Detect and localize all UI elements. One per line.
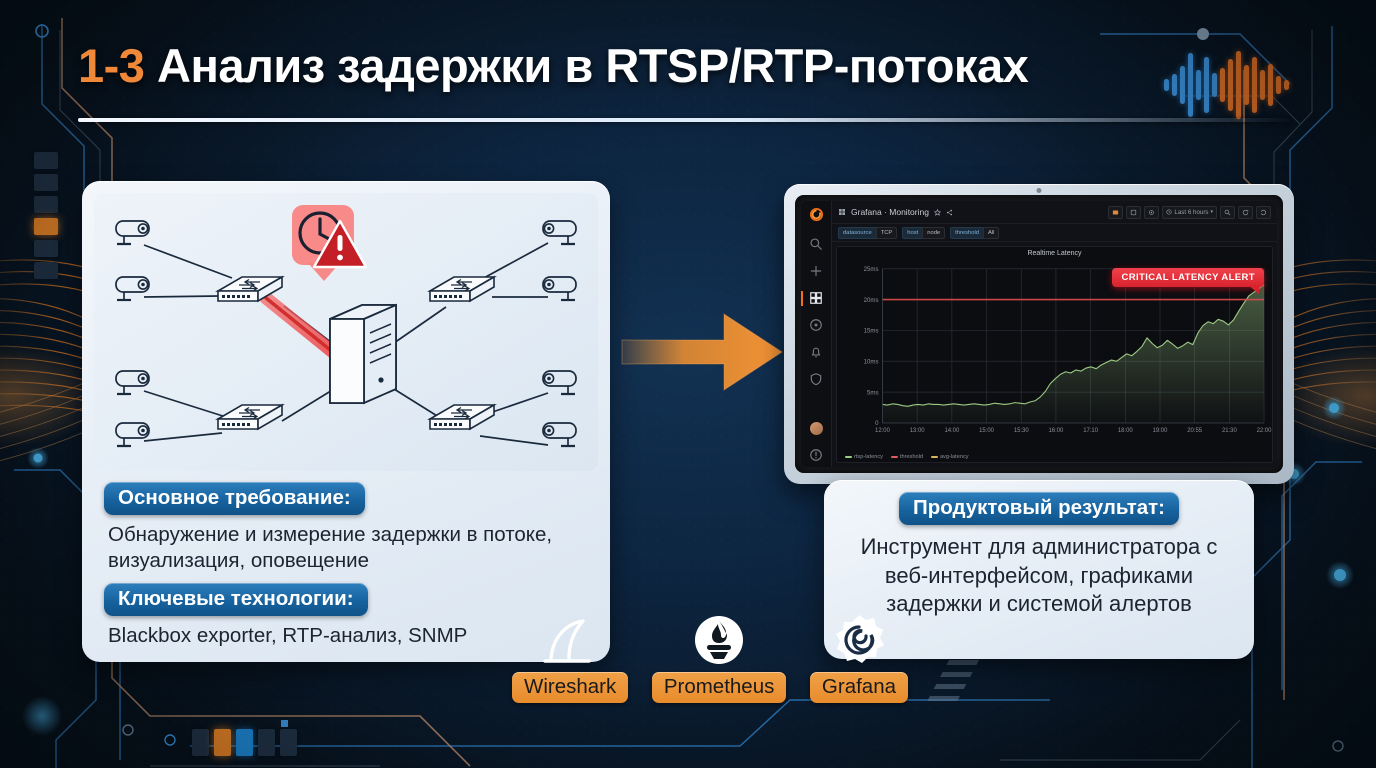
switch-icon xyxy=(430,277,494,301)
svg-text:15:00: 15:00 xyxy=(979,428,995,434)
tool-label: Wireshark xyxy=(512,672,628,703)
technologies-label: Ключевые технологии: xyxy=(104,583,368,616)
variable-value: TCP xyxy=(876,227,898,239)
zoom-out-button[interactable] xyxy=(1220,206,1235,219)
svg-text:5ms: 5ms xyxy=(867,389,879,396)
time-range-picker[interactable]: Last 6 hours ▾ xyxy=(1162,206,1217,219)
svg-text:0: 0 xyxy=(875,420,879,427)
requirement-block: Основное требование: Обнаружение и измер… xyxy=(104,482,590,574)
variable-label: threshold xyxy=(950,227,983,239)
camera-icon xyxy=(543,221,576,244)
slide-number: 1-3 xyxy=(78,39,144,92)
variable-value: All xyxy=(983,227,999,239)
svg-text:22:00: 22:00 xyxy=(1257,428,1272,434)
tool-wireshark[interactable]: Wireshark xyxy=(512,614,628,703)
camera-network-topology-diagram xyxy=(94,193,598,471)
critical-alert-badge: CRITICAL LATENCY ALERT xyxy=(1112,268,1264,287)
svg-text:16:00: 16:00 xyxy=(1049,428,1065,434)
dashboard-title: Grafana · Monitoring xyxy=(851,207,929,217)
chevron-down-icon: ▾ xyxy=(1210,209,1213,215)
camera-icon xyxy=(543,371,576,394)
tool-badges: Wireshark Prometheus Grafana xyxy=(512,614,908,703)
add-panel-button[interactable] xyxy=(1108,206,1123,219)
monitor-inner-frame: Grafana · Monitoring xyxy=(795,195,1283,473)
tool-grafana[interactable]: Grafana xyxy=(810,614,908,703)
camera-icon xyxy=(116,371,149,394)
help-icon[interactable] xyxy=(809,448,823,462)
legend-item: threshold xyxy=(891,454,923,460)
monitor-bezel: Grafana · Monitoring xyxy=(784,184,1294,484)
share-icon[interactable] xyxy=(946,209,953,216)
avatar-icon[interactable] xyxy=(810,422,823,435)
audio-waveform-decoration xyxy=(1164,30,1289,140)
shield-icon[interactable] xyxy=(809,372,823,386)
auto-refresh-button[interactable] xyxy=(1256,206,1271,219)
grafana-spiral-icon xyxy=(833,614,885,666)
chevron-marks-right xyxy=(927,660,979,701)
grafana-variables-bar: datasource TCP host node threshold All xyxy=(832,224,1277,242)
result-label: Продуктовый результат: xyxy=(899,492,1179,525)
dashboard-grid-icon xyxy=(838,208,846,216)
grafana-toolbar: Last 6 hours ▾ xyxy=(1108,206,1271,219)
svg-text:15ms: 15ms xyxy=(864,328,879,335)
result-text: Инструмент для администратора с веб-инте… xyxy=(840,533,1238,619)
switch-icon xyxy=(218,405,282,429)
active-nav-indicator xyxy=(801,291,803,306)
star-icon[interactable] xyxy=(934,209,941,216)
webcam-dot-icon xyxy=(1037,188,1042,193)
variable-label: host xyxy=(902,227,922,239)
bottom-indicator-bars xyxy=(192,729,297,756)
tool-prometheus[interactable]: Prometheus xyxy=(652,614,787,703)
grafana-sidebar xyxy=(801,201,832,467)
slide-root: 1-3 Анализ задержки в RTSP/RTP-потоках xyxy=(0,0,1376,768)
camera-icon xyxy=(543,423,576,446)
legend-item: avg-latency xyxy=(931,454,969,460)
time-range-label: Last 6 hours xyxy=(1174,209,1208,216)
dashboards-icon[interactable] xyxy=(809,291,823,305)
svg-text:18:00: 18:00 xyxy=(1118,428,1134,434)
svg-text:15:30: 15:30 xyxy=(1014,428,1030,434)
variable-host[interactable]: host node xyxy=(902,227,945,239)
variable-label: datasource xyxy=(838,227,876,239)
camera-icon xyxy=(116,221,149,244)
monitor-mockup: Grafana · Monitoring xyxy=(784,184,1294,484)
switch-icon xyxy=(430,405,494,429)
prometheus-flame-icon xyxy=(693,614,745,666)
save-dashboard-button[interactable] xyxy=(1126,206,1141,219)
svg-text:14:00: 14:00 xyxy=(944,428,960,434)
svg-text:17:10: 17:10 xyxy=(1083,428,1099,434)
clock-icon xyxy=(1166,209,1172,215)
topology-svg xyxy=(94,193,598,471)
grafana-logo-icon[interactable] xyxy=(809,207,824,222)
variable-value: node xyxy=(922,227,945,239)
variable-datasource[interactable]: datasource TCP xyxy=(838,227,897,239)
alert-bell-icon[interactable] xyxy=(809,345,823,359)
slide-header: 1-3 Анализ задержки в RTSP/RTP-потоках xyxy=(78,38,1028,93)
server-icon xyxy=(330,305,396,403)
slide-title-text: Анализ задержки в RTSP/RTP-потоках xyxy=(157,39,1028,92)
requirement-label: Основное требование: xyxy=(104,482,365,515)
chart-legend: rtsp-latency threshold avg-latency xyxy=(845,454,969,460)
svg-text:12:00: 12:00 xyxy=(875,428,891,434)
left-indicator-bars xyxy=(34,152,58,279)
variable-threshold[interactable]: threshold All xyxy=(950,227,999,239)
title-divider xyxy=(78,118,1292,122)
latency-alert-callout xyxy=(292,205,366,281)
svg-text:13:00: 13:00 xyxy=(910,428,926,434)
svg-text:10ms: 10ms xyxy=(864,358,879,365)
flow-arrow-icon xyxy=(620,300,786,404)
left-card: Основное требование: Обнаружение и измер… xyxy=(82,181,610,662)
grafana-main-area: Grafana · Monitoring xyxy=(832,201,1277,467)
legend-item: rtsp-latency xyxy=(845,454,883,460)
page-title: 1-3 Анализ задержки в RTSP/RTP-потоках xyxy=(78,38,1028,93)
latency-chart-panel[interactable]: Realtime Latency 05ms10ms15ms20ms25ms12:… xyxy=(836,246,1273,463)
search-icon[interactable] xyxy=(809,237,823,251)
svg-text:20ms: 20ms xyxy=(864,297,879,304)
svg-text:19:00: 19:00 xyxy=(1153,428,1169,434)
svg-text:20:55: 20:55 xyxy=(1187,428,1203,434)
tool-label: Grafana xyxy=(810,672,908,703)
requirement-text: Обнаружение и измерение задержки в поток… xyxy=(108,522,588,574)
explore-icon[interactable] xyxy=(809,318,823,332)
plus-icon[interactable] xyxy=(809,264,823,278)
grafana-dashboard-screen: Grafana · Monitoring xyxy=(801,201,1277,467)
svg-text:21:30: 21:30 xyxy=(1222,428,1238,434)
grafana-topbar: Grafana · Monitoring xyxy=(832,201,1277,224)
dashboard-settings-button[interactable] xyxy=(1144,206,1159,219)
svg-text:25ms: 25ms xyxy=(864,266,879,273)
tool-label: Prometheus xyxy=(652,672,787,703)
refresh-button[interactable] xyxy=(1238,206,1253,219)
wireshark-fin-icon xyxy=(539,614,601,666)
camera-icon xyxy=(116,423,149,446)
